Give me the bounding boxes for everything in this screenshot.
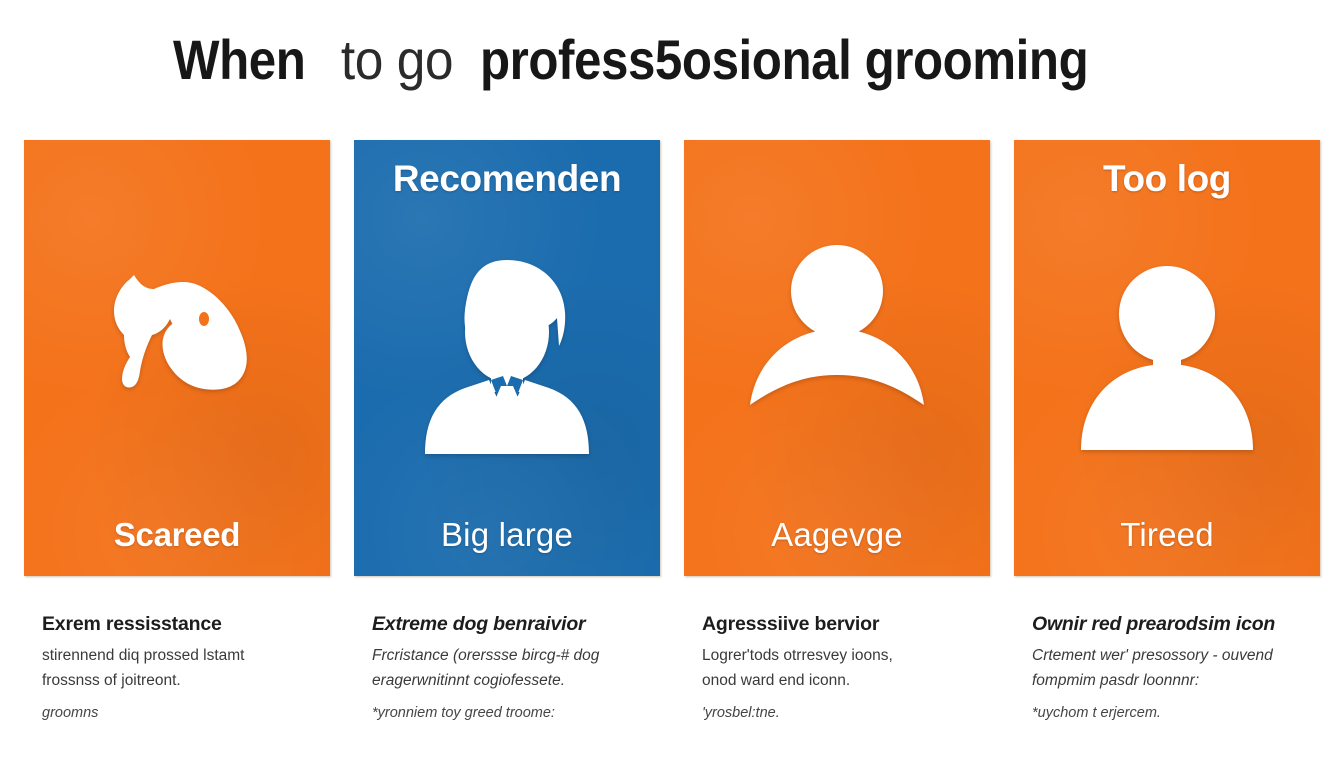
- card-label-0: Scareed: [114, 516, 240, 554]
- caption-body-0: stirennend diq prossed lstamt frossnss o…: [42, 643, 324, 693]
- caption-heading-2: Agresssiive bervior: [702, 612, 984, 636]
- card-header-3: Too log: [1103, 158, 1231, 202]
- cards-row: Scareed Recomenden Big large: [24, 140, 1320, 576]
- caption-block-1: Extreme dog benraivior Frcristance (orer…: [354, 612, 660, 752]
- caption-block-2: Agresssiive bervior Logrer'tods otrresve…: [684, 612, 990, 752]
- caption-body-line-0-2: frossnss of joitreont.: [42, 668, 324, 693]
- caption-body-line-1-1: Frcristance (orerssse bircg-# dog: [372, 643, 654, 668]
- page-title-segment-1: When: [173, 32, 305, 88]
- card-label-1: Big large: [441, 516, 573, 554]
- caption-note-3: *uychom t erjercem.: [1032, 705, 1314, 721]
- caption-note-0: groomns: [42, 705, 324, 721]
- card-recomenden[interactable]: Recomenden Big large: [354, 140, 660, 576]
- card-aagevge[interactable]: Aagevge: [684, 140, 990, 576]
- captions-row: Exrem ressisstance stirennend diq prosse…: [24, 612, 1320, 752]
- caption-note-2: 'yrosbel:tne.: [702, 705, 984, 721]
- caption-body-line-0-1: stirennend diq prossed lstamt: [42, 643, 324, 668]
- page-title: When to go profess5osional grooming: [173, 32, 1171, 88]
- caption-body-3: Crtement wer' presossory - ouvend fompmi…: [1032, 643, 1314, 693]
- caption-body-line-2-2: onod ward end iconn.: [702, 668, 984, 693]
- groomer-person-suit-icon: [354, 202, 660, 516]
- caption-heading-1: Extreme dog benraivior: [372, 612, 654, 636]
- caption-block-0: Exrem ressisstance stirennend diq prosse…: [24, 612, 330, 752]
- caption-note-1: *yronniem toy greed troome:: [372, 705, 654, 721]
- card-label-3: Tireed: [1120, 516, 1214, 554]
- card-header-1: Recomenden: [393, 158, 621, 202]
- caption-body-2: Logrer'tods otrresvey ioons, onod ward e…: [702, 643, 984, 693]
- caption-block-3: Ownir red prearodsim icon Crtement wer' …: [1014, 612, 1320, 752]
- card-label-2: Aagevge: [771, 516, 903, 554]
- card-scareed[interactable]: Scareed: [24, 140, 330, 576]
- caption-body-1: Frcristance (orerssse bircg-# dog erager…: [372, 643, 654, 693]
- caption-body-line-1-2: eragerwnitinnt cogiofessete.: [372, 668, 654, 693]
- caption-heading-3: Ownir red prearodsim icon: [1032, 612, 1314, 636]
- page-title-segment-light: to go: [339, 32, 455, 88]
- caption-heading-0: Exrem ressisstance: [42, 612, 324, 636]
- page-title-segment-2: profess5osional grooming: [480, 32, 1088, 88]
- caption-body-line-2-1: Logrer'tods otrresvey ioons,: [702, 643, 984, 668]
- caption-body-line-3-2: fompmim pasdr loonnnr:: [1032, 668, 1314, 693]
- card-too-log[interactable]: Too log Tireed: [1014, 140, 1320, 576]
- person-bust-icon: [1014, 202, 1320, 516]
- person-avatar-icon: [684, 140, 990, 516]
- dog-head-icon: [24, 140, 330, 516]
- caption-body-line-3-1: Crtement wer' presossory - ouvend: [1032, 643, 1314, 668]
- title-bar: When to go profess5osional grooming: [0, 14, 1344, 106]
